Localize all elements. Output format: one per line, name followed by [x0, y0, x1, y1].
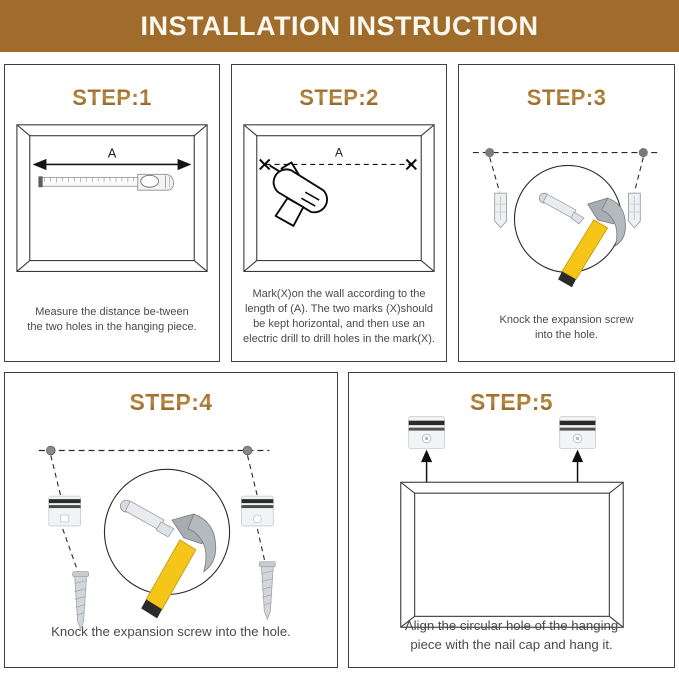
step-panel-1: STEP:1 A — [4, 64, 220, 362]
wall-bracket-icon-left — [49, 496, 81, 526]
step-5-caption-line-1: Align the circular hole of the hanging — [355, 616, 668, 635]
step-5-caption-line-2: piece with the nail cap and hang it. — [355, 635, 668, 654]
step-4-caption: Knock the expansion screw into the hole. — [11, 622, 331, 641]
page-title: INSTALLATION INSTRUCTION — [141, 11, 539, 42]
step-3-leader-left — [490, 158, 500, 193]
step-2-caption-line-4: electric drill to drill holes in the mar… — [238, 332, 440, 347]
picture-frame-icon — [17, 125, 207, 272]
step-4-leader-right-bottom — [257, 529, 265, 564]
step-4-leader-left-top — [51, 455, 61, 496]
hole-dot-icon-right — [243, 446, 252, 455]
header-banner: INSTALLATION INSTRUCTION — [0, 0, 679, 52]
step-5-title: STEP:5 — [349, 389, 674, 416]
nail-icon — [539, 193, 584, 224]
hammer-icon — [558, 198, 625, 287]
dimension-arrow-icon — [35, 160, 190, 169]
screw-icon-right — [259, 562, 275, 620]
step-2-caption-line-1: Mark(X)on the wall according to the — [238, 287, 440, 302]
step-panel-5: STEP:5 — [348, 372, 675, 668]
steps-grid: STEP:1 A — [0, 58, 679, 674]
wall-bracket-icon-right — [560, 417, 596, 449]
step-3-leader-right — [634, 158, 643, 193]
step-1-caption: Measure the distance be-tween the two ho… — [11, 305, 213, 335]
picture-frame-icon — [401, 482, 623, 627]
step-4-leader-left-bottom — [63, 529, 79, 574]
step-4-leader-right-top — [247, 455, 257, 496]
step-5-caption: Align the circular hole of the hanging p… — [355, 616, 668, 654]
step-2-caption: Mark(X)on the wall according to the leng… — [238, 287, 440, 347]
step-3-caption-line-2: into the hole. — [465, 328, 668, 343]
wall-bracket-icon-left — [409, 417, 445, 449]
up-arrow-icon-right — [573, 451, 582, 482]
hammer-icon — [141, 514, 215, 618]
hole-dot-icon-left — [485, 148, 494, 157]
wall-anchor-icon-left — [495, 193, 507, 228]
step-1-caption-line-1: Measure the distance be-tween — [11, 305, 213, 320]
picture-frame-icon — [244, 125, 434, 272]
tape-measure-icon — [39, 174, 174, 190]
hole-dot-icon-right — [639, 148, 648, 157]
nail-icon — [120, 500, 174, 537]
step-panel-2: STEP:2 A — [231, 64, 447, 362]
step-panel-3: STEP:3 — [458, 64, 675, 362]
step-3-caption-line-1: Knock the expansion screw — [465, 313, 668, 328]
magnifier-circle-icon — [514, 165, 621, 272]
x-mark-icon-right — [406, 160, 416, 170]
step-2-title: STEP:2 — [232, 85, 446, 111]
step-4-title: STEP:4 — [5, 389, 337, 416]
wall-bracket-icon-right — [242, 496, 274, 526]
step-panel-4: STEP:4 — [4, 372, 338, 668]
step-1-caption-line-2: the two holes in the hanging piece. — [11, 320, 213, 335]
electric-drill-icon — [270, 162, 327, 225]
hole-dot-icon-left — [46, 446, 55, 455]
step-4-caption-line-1: Knock the expansion screw into the hole. — [11, 622, 331, 641]
step-1-title: STEP:1 — [5, 85, 219, 111]
screw-icon-left — [73, 572, 89, 630]
step-3-caption: Knock the expansion screw into the hole. — [465, 313, 668, 343]
step-1-dimension-label: A — [108, 146, 117, 161]
step-3-title: STEP:3 — [459, 85, 674, 111]
wall-anchor-icon-right — [628, 193, 640, 228]
magnifier-circle-icon — [104, 469, 229, 594]
x-mark-icon-left — [260, 160, 270, 170]
step-2-dimension-label: A — [335, 146, 343, 160]
up-arrow-icon-left — [422, 451, 431, 482]
step-2-caption-line-2: length of (A). The two marks (X)should — [238, 302, 440, 317]
step-2-caption-line-3: be kept horizontal, and then use an — [238, 317, 440, 332]
